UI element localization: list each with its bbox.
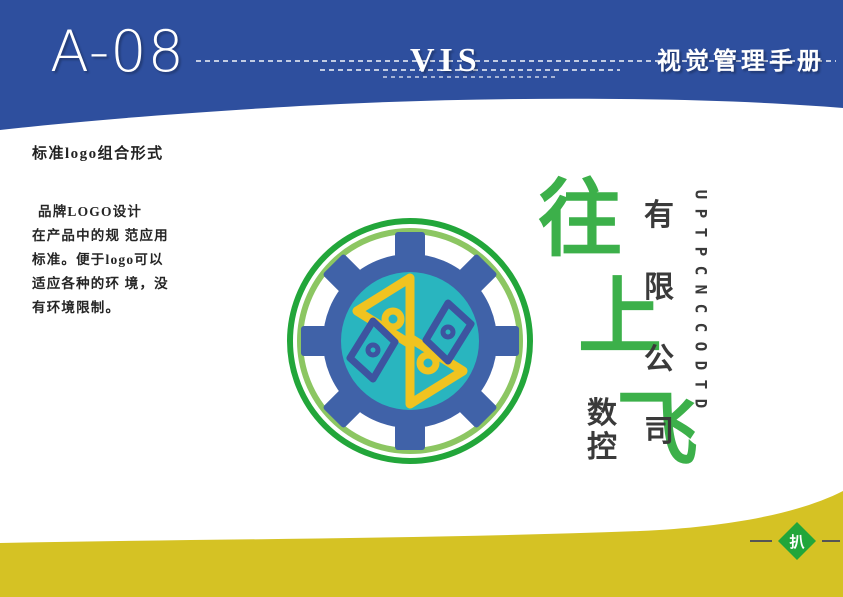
- brand-logo-mark: [285, 216, 535, 466]
- section-title: 标准logo组合形式: [32, 142, 164, 163]
- gear-emblem-icon: [285, 216, 535, 466]
- badge-rule-left: [750, 540, 772, 542]
- description-text: 品牌LOGO设计 在产品中的规 范应用 标准。便于logo可以 适应各种的环 境…: [32, 200, 222, 320]
- header-background-shape: [0, 0, 843, 130]
- description-line: 品牌LOGO设计: [32, 200, 222, 224]
- brand-char-wang: 往: [538, 177, 622, 261]
- page-number-label: 扒: [777, 521, 817, 561]
- brand-wordmark-lockup: 往 上 飞 数 控 有 限 公 司 U P T P C N C C O D T …: [538, 175, 718, 485]
- description-line: 在产品中的规 范应用: [32, 224, 222, 248]
- page-number-badge: 扒: [777, 521, 817, 561]
- page-code: A-08: [50, 24, 185, 81]
- footer-band-shape: [0, 487, 843, 597]
- company-suffix-char: 公: [638, 324, 680, 396]
- latin-letter: D: [692, 391, 711, 417]
- company-suffix-vertical: 有 限 公 司: [638, 180, 680, 468]
- description-line: 适应各种的环 境，没: [32, 272, 222, 296]
- company-suffix-char: 限: [638, 252, 680, 324]
- footer-decoration: [0, 487, 843, 597]
- vis-manual-page: A-08 VIS 视觉管理手册 标准logo组合形式 品牌LOGO设计 在产品中…: [0, 0, 843, 597]
- company-suffix-char: 有: [638, 180, 680, 252]
- company-suffix-char: 司: [638, 396, 680, 468]
- page-header: A-08 VIS 视觉管理手册: [0, 0, 843, 130]
- badge-rule-right: [822, 540, 840, 542]
- brand-subtitle-char: 控: [578, 431, 626, 465]
- description-line: 有环境限制。: [32, 296, 222, 320]
- brand-subtitle-cnc: 数 控: [578, 397, 626, 465]
- header-manual-title: 视觉管理手册: [657, 50, 825, 74]
- header-vis-label: VIS: [410, 44, 482, 78]
- brand-subtitle-char: 数: [578, 397, 626, 431]
- description-line: 标准。便于logo可以: [32, 248, 222, 272]
- latin-initials-vertical: U P T P C N C C O D T D: [688, 185, 714, 413]
